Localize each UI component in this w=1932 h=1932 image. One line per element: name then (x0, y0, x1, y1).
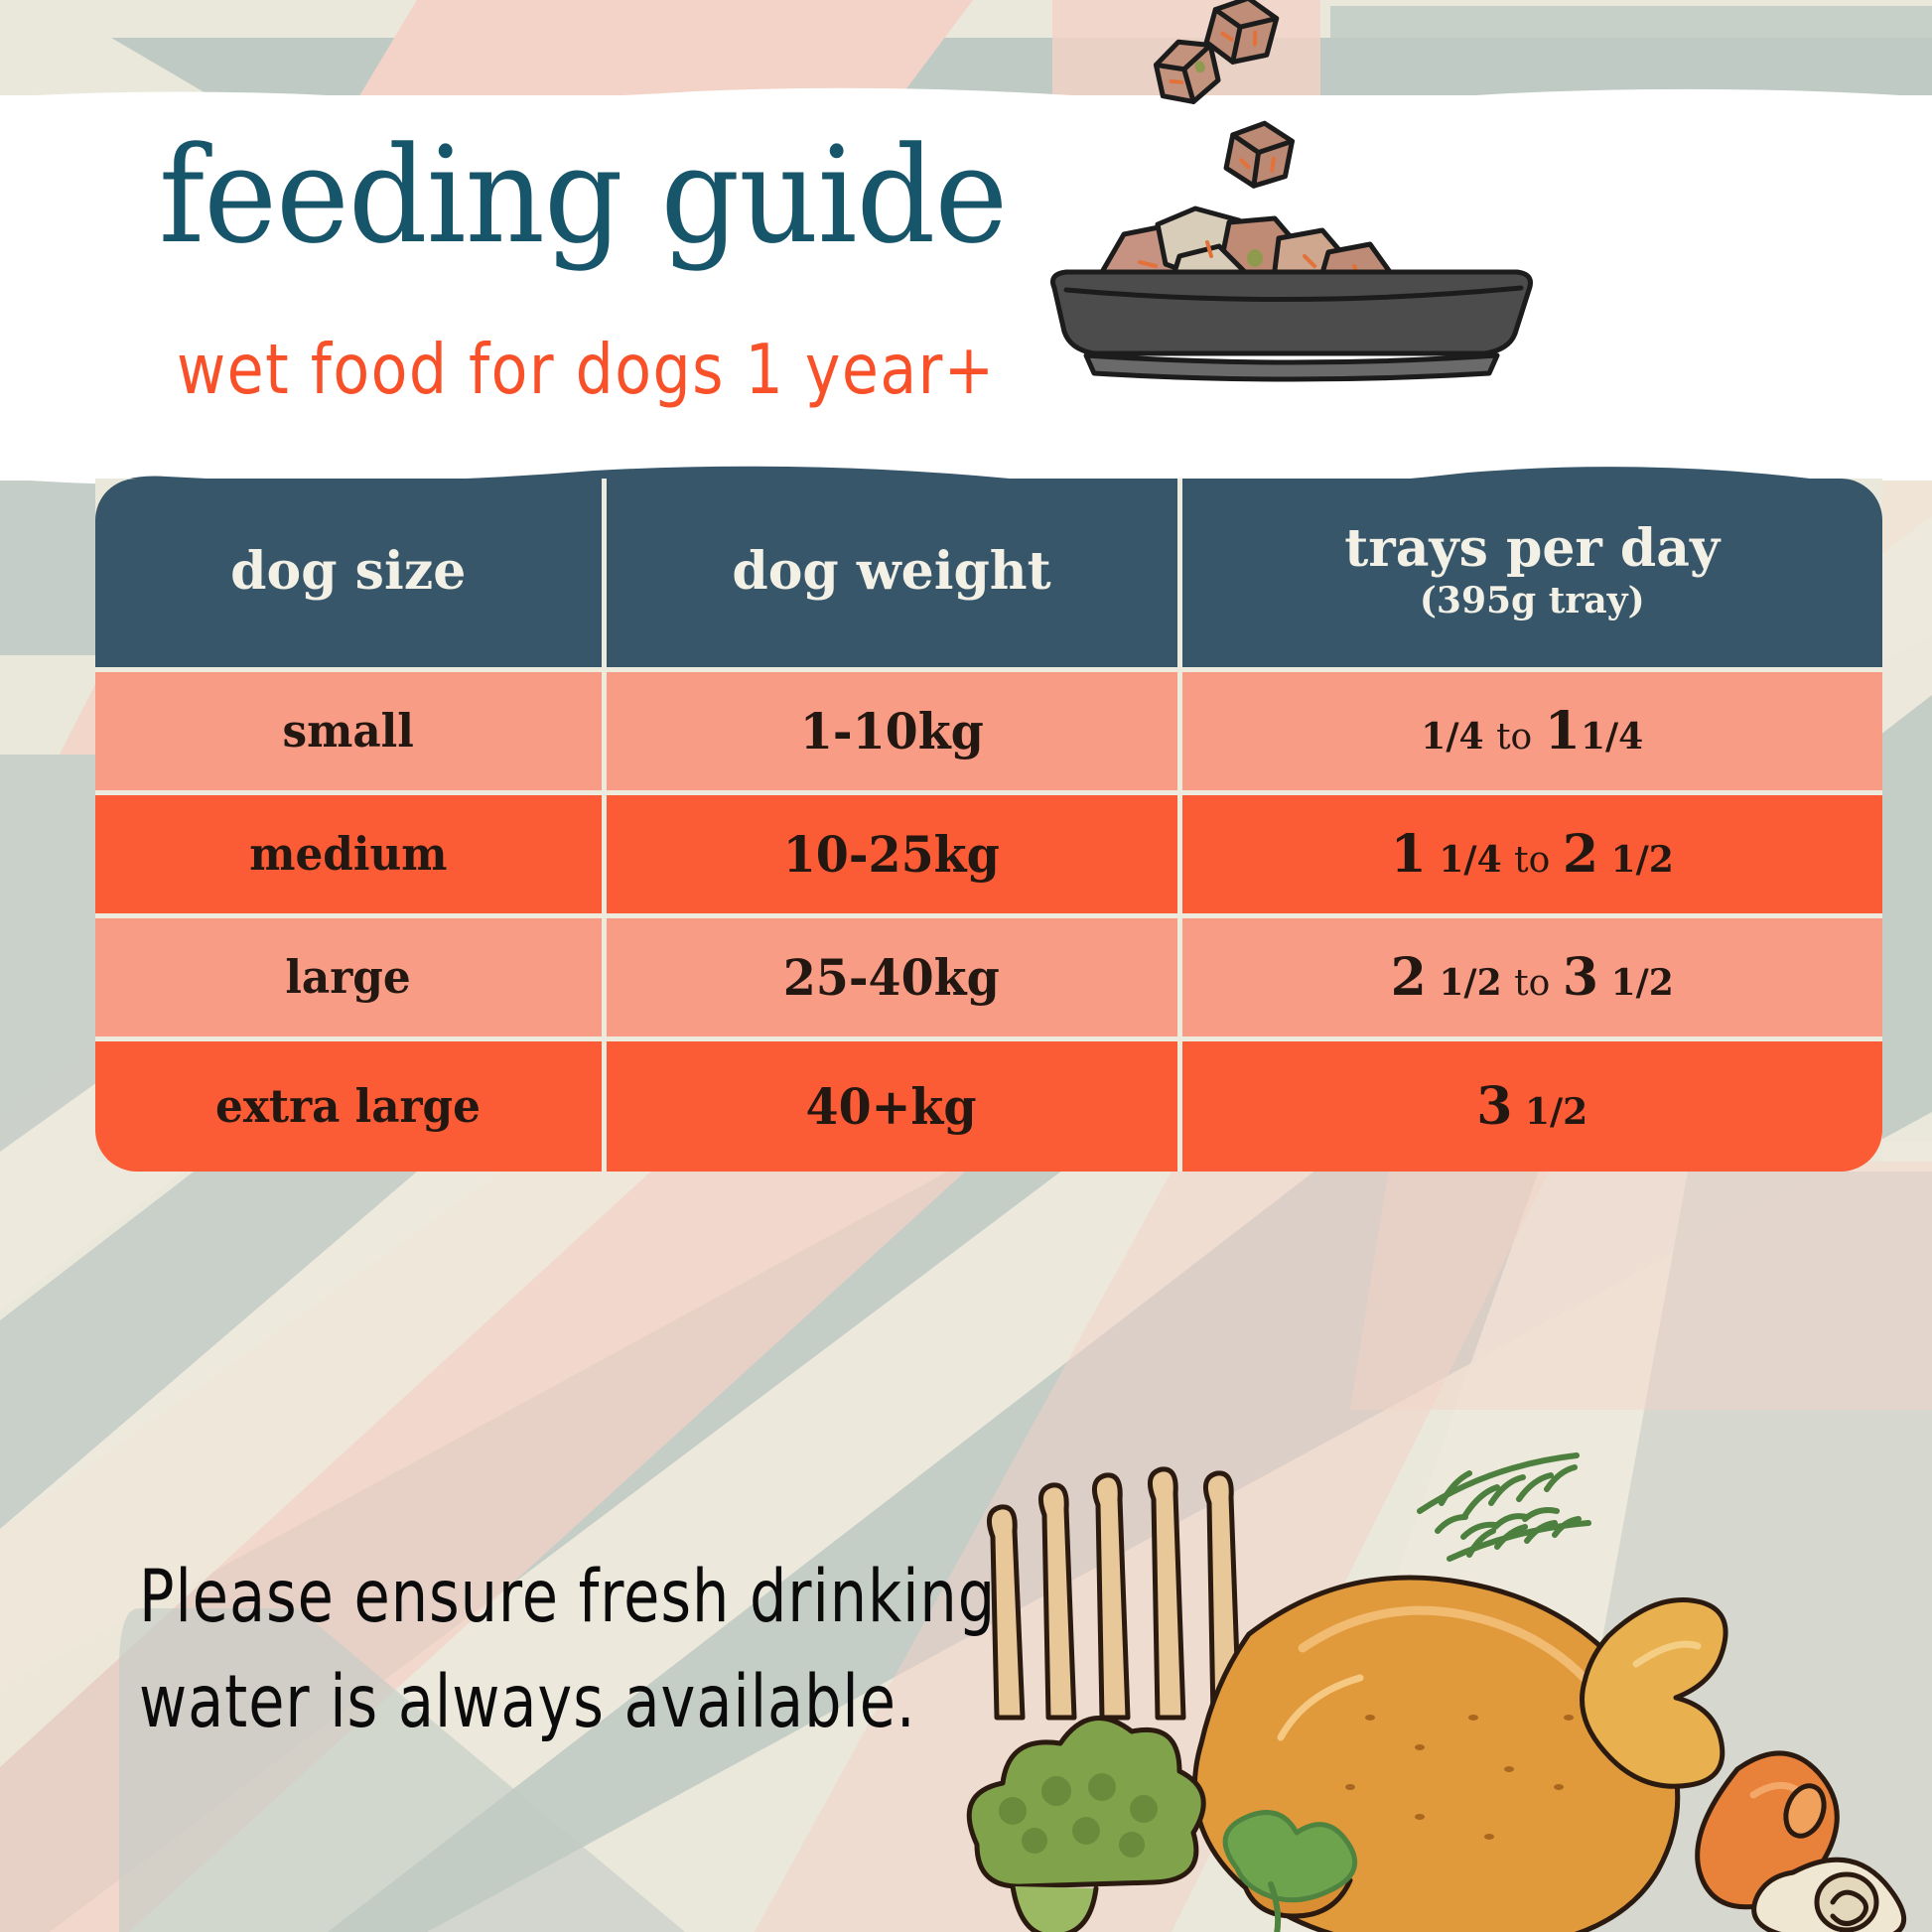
trays-from-frac: 1/4 (1439, 839, 1501, 881)
trays-from-whole: 1 (1391, 824, 1427, 885)
feeding-table: dog size dog weight trays per day (395g … (95, 479, 1882, 1172)
trays-connector: to (1514, 840, 1550, 881)
trays-from-frac: 1/4 (1421, 716, 1483, 758)
dog-weight-value: 40+kg (806, 1077, 977, 1136)
dog-size-value: medium (249, 827, 447, 881)
roast-chicken-illustration (953, 1420, 1932, 1932)
table-header: dog size dog weight trays per day (395g … (95, 479, 1882, 669)
trays-from-frac: 1/2 (1525, 1091, 1587, 1133)
footer-note: Please ensure fresh drinking water is al… (139, 1544, 996, 1754)
cell-dog-size: large (95, 915, 604, 1038)
column-header-dog-weight-label: dog weight (607, 545, 1177, 600)
column-header-trays-per-day: trays per day (395g tray) (1179, 479, 1882, 669)
cell-dog-size: small (95, 669, 604, 792)
trays-from-frac: 1/2 (1439, 962, 1501, 1004)
trays-per-day-value: 1/4 to 11/4 (1421, 716, 1643, 758)
column-header-trays-per-day-label: trays per day (1182, 522, 1883, 577)
cell-dog-weight: 10-25kg (604, 792, 1179, 915)
page-title: feeding guide (159, 129, 1007, 262)
table-row: medium 10-25kg 1 1/4 to 2 1/2 (95, 792, 1882, 915)
footer-note-line-1: Please ensure fresh drinking (139, 1544, 996, 1649)
cell-trays-per-day: 2 1/2 to 3 1/2 (1179, 915, 1882, 1038)
cell-trays-per-day: 1/4 to 11/4 (1179, 669, 1882, 792)
footer-note-line-2: water is always available. (139, 1649, 996, 1754)
page-subtitle: wet food for dogs 1 year+ (177, 336, 996, 404)
feeding-table-wrapper: dog size dog weight trays per day (395g … (95, 479, 1882, 1162)
cell-trays-per-day: 3 1/2 (1179, 1038, 1882, 1172)
column-header-dog-size: dog size (95, 479, 604, 669)
trays-to-whole: 2 (1563, 824, 1598, 885)
dog-weight-value: 1-10kg (799, 702, 983, 760)
cell-dog-size: medium (95, 792, 604, 915)
dog-size-value: large (286, 950, 411, 1004)
trays-to-frac: 1/4 (1581, 716, 1643, 758)
cell-dog-weight: 40+kg (604, 1038, 1179, 1172)
trays-to-frac: 1/2 (1611, 962, 1674, 1004)
table-body: small 1-10kg 1/4 to 11/4 medium (95, 669, 1882, 1172)
cell-trays-per-day: 1 1/4 to 2 1/2 (1179, 792, 1882, 915)
table-row: extra large 40+kg 3 1/2 (95, 1038, 1882, 1172)
trays-from-whole: 2 (1391, 947, 1427, 1008)
cell-dog-weight: 25-40kg (604, 915, 1179, 1038)
dog-weight-value: 25-40kg (783, 948, 1000, 1007)
cell-dog-size: extra large (95, 1038, 604, 1172)
dog-food-bowl-illustration (1033, 0, 1549, 387)
dog-size-value: small (283, 704, 414, 758)
trays-connector: to (1496, 717, 1532, 758)
column-header-dog-size-label: dog size (95, 545, 602, 600)
table-header-row: dog size dog weight trays per day (395g … (95, 479, 1882, 669)
trays-to-whole: 3 (1563, 947, 1598, 1008)
dog-size-value: extra large (215, 1079, 481, 1133)
column-header-trays-per-day-sublabel: (395g tray) (1182, 580, 1883, 622)
column-header-dog-weight: dog weight (604, 479, 1179, 669)
trays-per-day-value: 3 1/2 (1476, 1091, 1587, 1133)
trays-per-day-value: 1 1/4 to 2 1/2 (1391, 839, 1674, 881)
banner-top-rough-edge (0, 83, 1932, 109)
trays-connector: to (1514, 963, 1550, 1004)
trays-from-whole: 3 (1476, 1076, 1512, 1137)
trays-to-whole: 1 (1545, 701, 1581, 761)
cell-dog-weight: 1-10kg (604, 669, 1179, 792)
table-row: small 1-10kg 1/4 to 11/4 (95, 669, 1882, 792)
dog-weight-value: 10-25kg (783, 825, 1000, 884)
table-row: large 25-40kg 2 1/2 to 3 1/2 (95, 915, 1882, 1038)
trays-to-frac: 1/2 (1611, 839, 1674, 881)
trays-per-day-value: 2 1/2 to 3 1/2 (1391, 962, 1674, 1004)
